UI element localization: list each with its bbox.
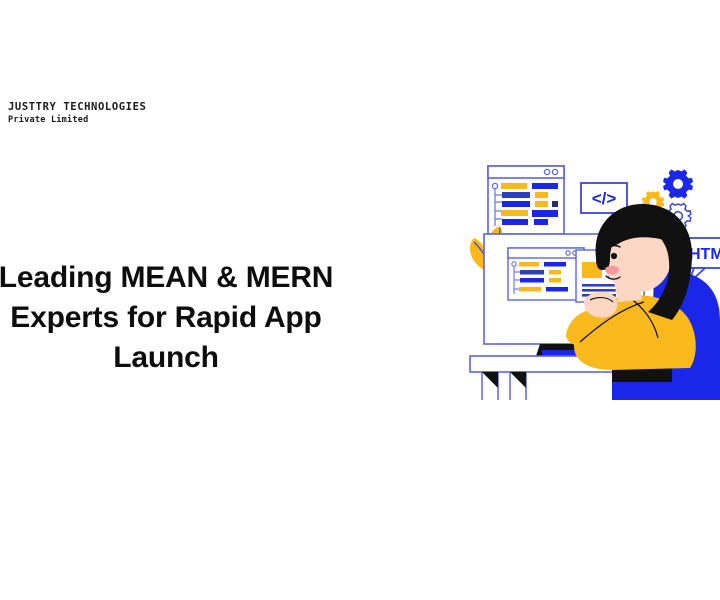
html-bubble-label: HTML bbox=[689, 246, 720, 263]
developer-at-desk-illustration: </> bbox=[462, 150, 720, 400]
company-logo[interactable]: JUSTTRY TECHNOLOGIES Private Limited bbox=[8, 102, 146, 124]
hero-headline: Leading MEAN & MERN Experts for Rapid Ap… bbox=[0, 258, 350, 378]
code-bubble-label: </> bbox=[592, 189, 617, 208]
logo-company-subtitle: Private Limited bbox=[8, 116, 146, 125]
floating-code-window-icon bbox=[488, 166, 564, 234]
page-canvas: JUSTTRY TECHNOLOGIES Private Limited Lea… bbox=[0, 0, 720, 600]
logo-company-name: JUSTTRY TECHNOLOGIES bbox=[8, 102, 146, 113]
